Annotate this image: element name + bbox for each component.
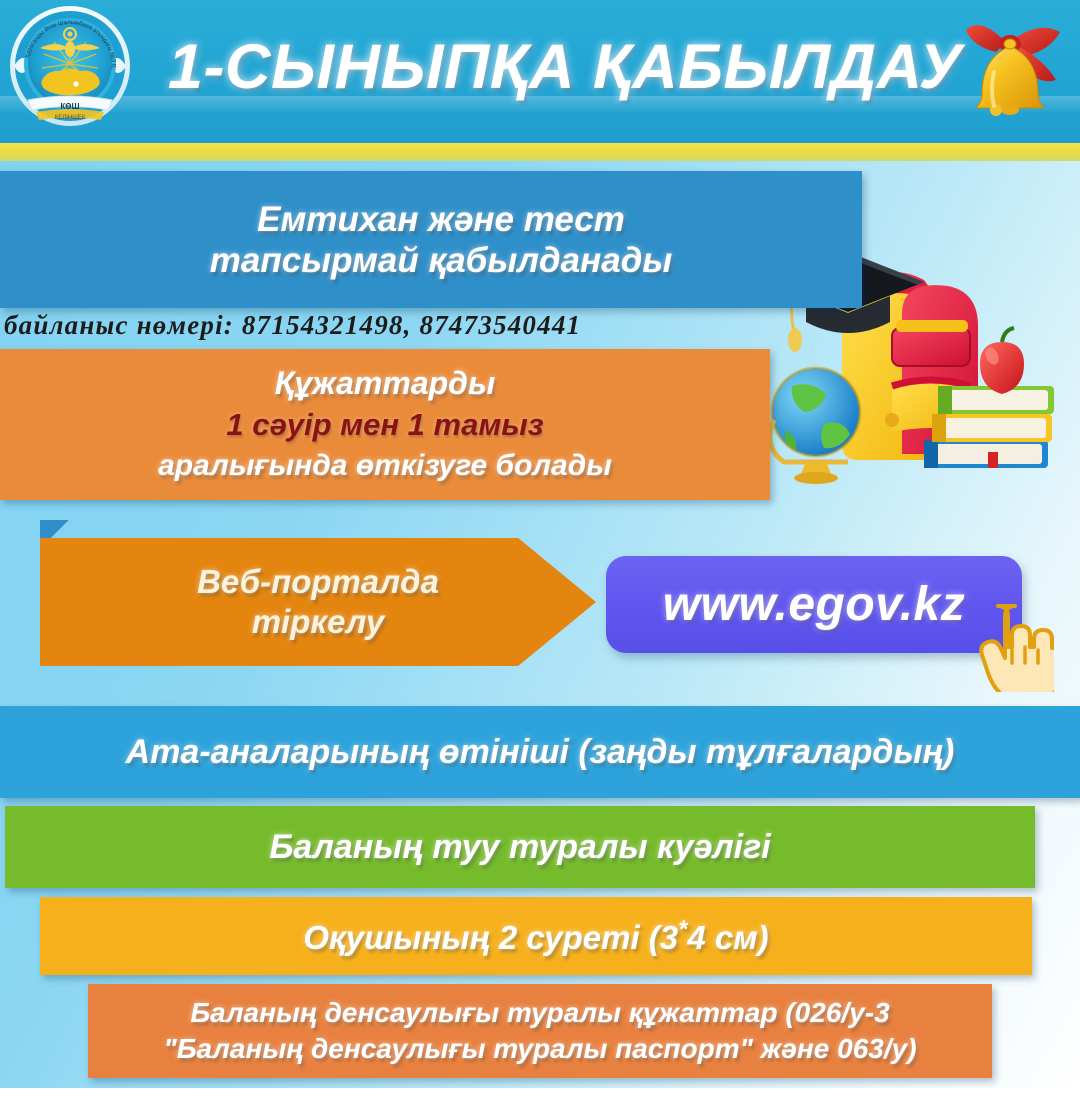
arrow-fold-corner — [40, 520, 78, 539]
svg-text:КЕЛІНШЕК: КЕЛІНШЕК — [55, 115, 86, 121]
portal-line-2: тіркелу — [197, 602, 439, 642]
header-divider-stripe — [0, 143, 1080, 161]
requirement-birth-certificate: Баланың туу туралы куәлігі — [5, 806, 1035, 888]
documents-line-3: аралығында өткізуге болады — [0, 445, 770, 486]
requirement-text: Оқушының 2 суреті (3*4 см) — [303, 916, 768, 957]
exam-info-band: Емтихан және тест тапсырмай қабылданады — [0, 171, 862, 308]
requirement-text: Баланың туу туралы куәлігі — [269, 828, 770, 867]
page-title: 1-СЫНЫПҚА ҚАБЫЛДАУ — [168, 17, 948, 117]
header-banner: Қарағанды Әкім Шалымбаев атындағы №3 Қал… — [0, 0, 1080, 143]
health-line-2: "Баланың денсаулығы туралы паспорт" және… — [88, 1031, 992, 1067]
documents-deadline-band: Құжаттарды 1 сәуір мен 1 тамыз аралығынд… — [0, 349, 770, 500]
photos-text-after: 4 см) — [687, 919, 768, 956]
requirement-health-documents: Баланың денсаулығы туралы құжаттар (026/… — [88, 984, 992, 1078]
requirement-student-photos: Оқушының 2 суреті (3*4 см) — [40, 897, 1032, 975]
egov-link-button[interactable]: www.egov.kz — [606, 556, 1022, 653]
bottom-edge-strip — [0, 1088, 1080, 1094]
documents-line-1: Құжаттарды — [0, 363, 770, 404]
documents-line-2-dates: 1 сәуір мен 1 тамыз — [0, 404, 770, 445]
photos-text-before: Оқушының 2 суреті (3 — [303, 919, 678, 956]
portal-line-1: Веб-порталда — [197, 562, 439, 602]
school-bell-icon — [948, 2, 1074, 132]
exam-line-2: тапсырмай қабылданады — [0, 240, 842, 281]
requirement-text: Ата-аналарының өтініші (заңды тұлғаларды… — [126, 733, 955, 772]
health-line-1: Баланың денсаулығы туралы құжаттар (026/… — [88, 995, 992, 1031]
exam-line-1: Емтихан және тест — [0, 199, 842, 240]
poster-root: Қарағанды Әкім Шалымбаев атындағы №3 Қал… — [0, 0, 1080, 1094]
kazakhstan-school-emblem-icon: Қарағанды Әкім Шалымбаев атындағы №3 Қал… — [6, 4, 134, 132]
requirement-parents-application: Ата-аналарының өтініші (заңды тұлғаларды… — [0, 706, 1080, 798]
photos-star: * — [678, 916, 687, 943]
pointing-hand-cursor-icon — [972, 600, 1054, 692]
contact-phone-line: байланыс нөмері: 87154321498, 8747354044… — [4, 309, 764, 341]
web-portal-arrow: Веб-порталда тіркелу — [40, 538, 596, 666]
